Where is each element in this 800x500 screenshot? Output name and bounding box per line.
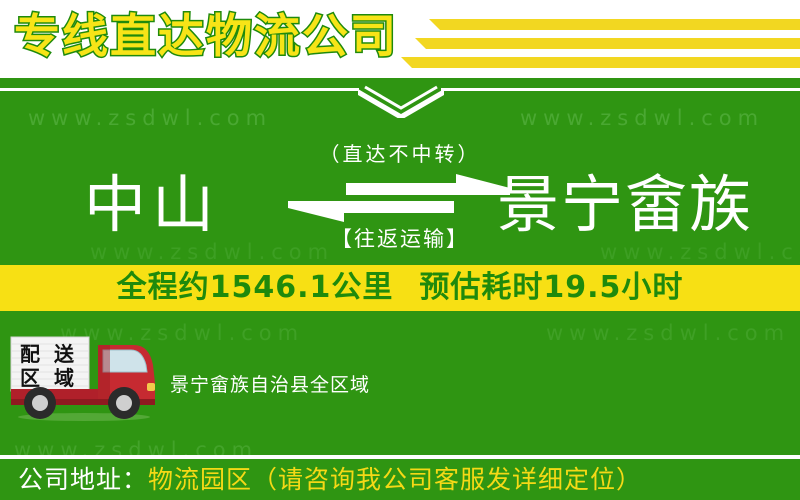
metrics-band: 全程约1546.1公里预估耗时19.5小时 [0,265,800,311]
address-value: 物流园区（请咨询我公司客服发详细定位） [148,465,642,494]
coverage-area-text: 景宁畲族自治县全区域 [170,370,370,397]
watermark: www.zsdwl.com [546,321,790,345]
direct-note: （直达不中转） [300,138,500,167]
main-panel: www.zsdwl.com www.zsdwl.com www.zsdwl.co… [0,78,800,458]
footer-address-bar: 公司地址：物流园区（请咨询我公司客服发详细定位） [0,459,800,500]
address-line: 公司地址：物流园区（请咨询我公司客服发详细定位） [18,459,642,500]
decor-stripe-3 [412,57,800,68]
svg-text:域: 域 [54,366,74,390]
watermark: www.zsdwl.com [90,240,334,264]
double-arrow-icon [288,174,510,222]
metrics-text: 全程约1546.1公里预估耗时19.5小时 [0,265,800,311]
svg-text:配: 配 [20,342,40,366]
watermark: www.zsdwl.com [520,106,764,130]
page-title: 专线直达物流公司 [14,7,398,65]
distance-value: 全程约1546.1公里 [117,270,394,305]
divider-rule-right [441,88,800,91]
svg-text:送: 送 [54,342,75,366]
roundtrip-note: 【往返运输】 [300,223,500,253]
decor-stripe-1 [440,19,800,30]
delivery-truck-icon: 配 送 区 域 [6,331,158,423]
address-label: 公司地址： [18,465,148,494]
banner-header: 专线直达物流公司 [0,0,800,78]
origin-city: 中山 [84,170,220,240]
duration-value: 预估耗时19.5小时 [419,270,683,305]
divider-rule-left [0,88,359,91]
svg-text:区: 区 [20,366,40,390]
decor-stripe-2 [426,38,800,49]
chevron-down-icon [356,84,446,118]
logistics-banner: 专线直达物流公司 www.zsdwl.com www.zsdwl.com www… [0,0,800,500]
watermark: www.zsdwl.com [28,106,272,130]
destination-city: 景宁畲族 [497,170,753,240]
